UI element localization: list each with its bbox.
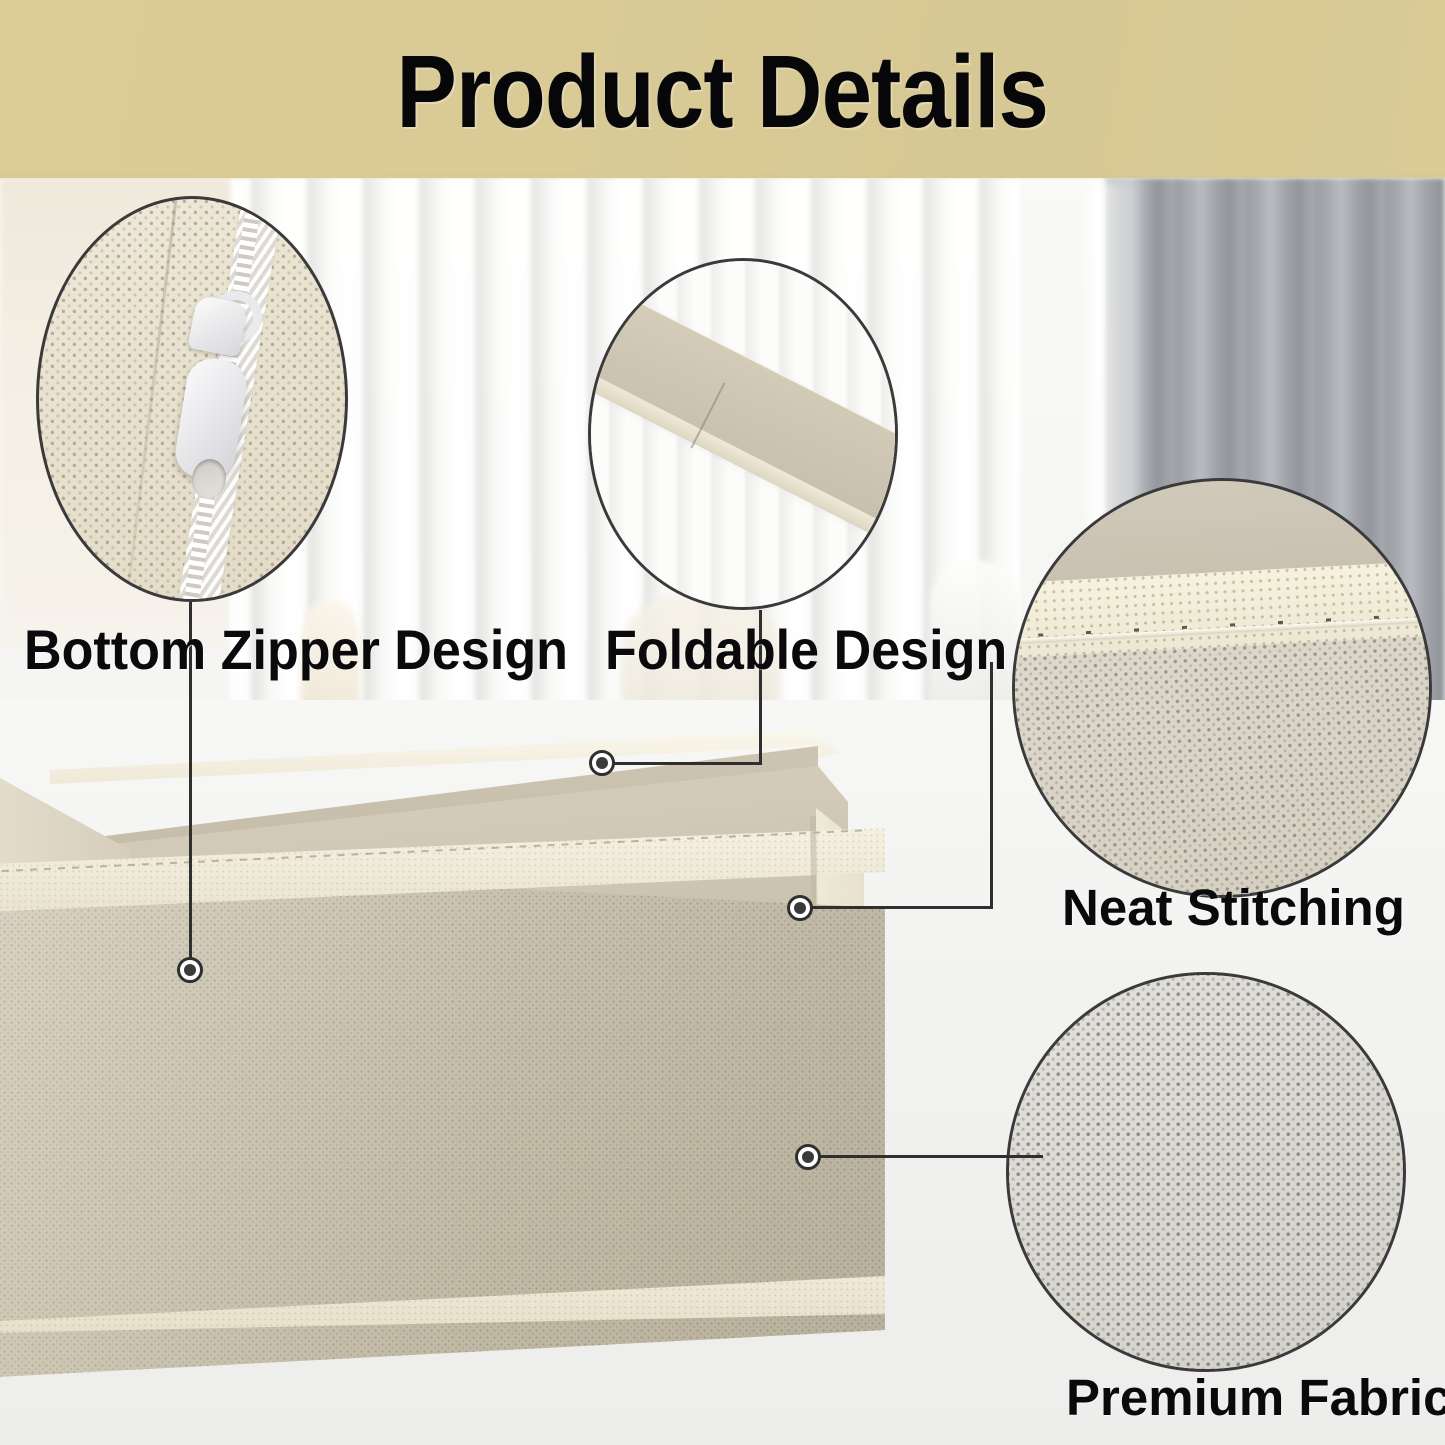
callout-label-neat-stitching: Neat Stitching [1062,882,1405,933]
zipper-slider-body [187,295,248,358]
storage-box [0,720,950,1400]
page-title: Product Details [397,40,1049,143]
box-rim-stitch-line [0,872,870,916]
detail-circle-bottom-zipper [36,196,348,602]
detail-circle-premium-fabric [1006,972,1406,1372]
fabric-body [1012,635,1432,898]
leader-line-stitching-h [800,906,993,909]
callout-dot-foldable [589,750,615,776]
callout-dot-neat-stitching [787,895,813,921]
callout-dot-bottom-zipper [177,957,203,983]
callout-dot-premium-fabric [795,1144,821,1170]
header-banner: Product Details [0,0,1445,178]
leader-line-foldable-h [602,762,762,765]
product-details-infographic: Product Details [0,0,1445,1445]
detail-circle-neat-stitching [1012,478,1432,898]
fabric-seam [120,196,181,602]
detail-circle-foldable [588,258,898,610]
callout-label-foldable: Foldable Design [605,622,1007,678]
callout-label-premium-fabric: Premium Fabric [1066,1372,1445,1423]
banner-bottom-edge [0,174,1445,180]
leader-line-stitching-v [990,662,993,908]
fabric-weave-texture [1006,972,1406,1372]
callout-label-bottom-zipper: Bottom Zipper Design [24,622,568,678]
leader-line-premium-fabric [808,1155,1043,1158]
